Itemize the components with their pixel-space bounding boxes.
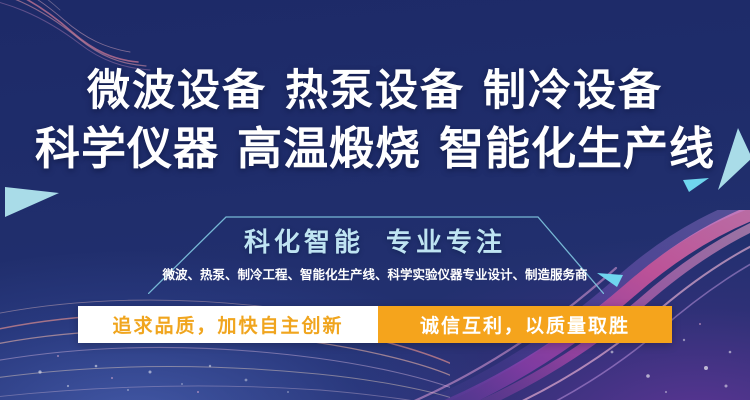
slogan-right: 诚信互利，以质量取胜 [378,306,672,343]
subtitle-cyan: 科化智能专业专注 [0,222,750,259]
headline-line-2: 科学仪器高温煅烧智能化生产线 [0,120,750,178]
promo-banner: 微波设备热泵设备制冷设备 科学仪器高温煅烧智能化生产线 科化智能专业专注 微波、… [0,0,750,400]
headline-line1-item1: 微波设备 [87,67,267,115]
arrow-left-icon [5,181,59,217]
headline-line2-item1: 科学仪器 [35,123,219,174]
headline-line2-item3: 智能化生产线 [439,123,715,174]
headline-line1-item2: 热泵设备 [285,67,465,115]
subtitle-left: 科化智能 [244,227,364,257]
headline-block: 微波设备热泵设备制冷设备 科学仪器高温煅烧智能化生产线 [0,62,750,178]
slogan-left: 追求品质，加快自主创新 [78,306,378,343]
headline-line1-item3: 制冷设备 [483,67,663,115]
subtitle-right: 专业专注 [386,227,506,257]
headline-line2-item2: 高温煅烧 [237,123,421,174]
slogan-strip-group: 追求品质，加快自主创新 诚信互利，以质量取胜 [78,306,672,343]
arrow-right-small-icon [683,178,709,200]
subtitle-description: 微波、热泵、制冷工程、智能化生产线、科学实验仪器专业设计、制造服务商 [0,264,750,283]
headline-line-1: 微波设备热泵设备制冷设备 [0,62,750,120]
